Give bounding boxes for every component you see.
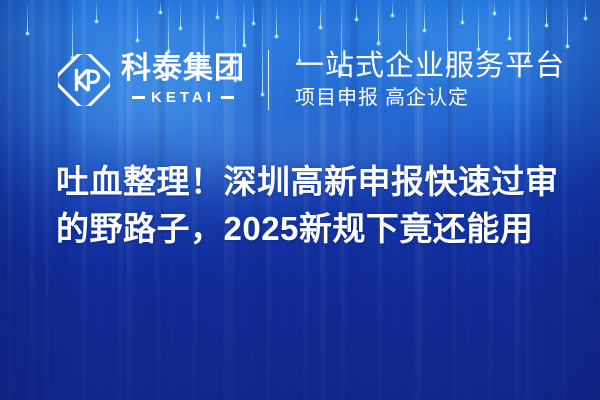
light-beam — [217, 0, 218, 18]
light-beam — [462, 0, 463, 23]
brand-name-en-row: KETAI — [121, 89, 245, 106]
light-beam — [137, 0, 138, 41]
light-beam — [494, 0, 495, 14]
light-beam — [356, 0, 357, 20]
light-beam — [243, 0, 245, 46]
light-beam — [392, 0, 393, 16]
header-divider — [268, 50, 269, 110]
brand-wordmark: 科泰集团 KETAI — [121, 54, 245, 106]
light-beam — [509, 0, 510, 39]
light-beam — [27, 0, 28, 34]
headline-block: 吐血整理！深圳高新申报快速过审 的野路子，2025新规下竟还能用 — [56, 158, 556, 252]
headline-line-2: 的野路子，2025新规下竟还能用 — [56, 205, 556, 252]
headline-line-1: 吐血整理！深圳高新申报快速过审 — [56, 158, 556, 205]
light-beam — [567, 0, 568, 47]
light-beam — [424, 0, 425, 31]
banner-header: 科泰集团 KETAI 一站式企业服务平台 项目申报 高企认定 — [0, 42, 600, 118]
ketai-kp-monogram-icon — [58, 54, 110, 106]
brand-name-en: KETAI — [145, 89, 221, 106]
light-beam — [276, 0, 277, 37]
light-beam — [180, 0, 181, 29]
light-beam — [378, 0, 379, 44]
light-beam — [96, 0, 97, 22]
tagline-block: 一站式企业服务平台 项目申报 高企认定 — [295, 51, 565, 108]
brand-name-cn: 科泰集团 — [121, 54, 245, 84]
light-beam — [546, 0, 547, 26]
wordmark-dash-right — [221, 96, 234, 99]
light-beam — [160, 0, 161, 13]
light-beam — [320, 0, 321, 28]
light-beam — [585, 0, 586, 19]
brand-logo: 科泰集团 KETAI — [58, 54, 245, 106]
wordmark-dash-left — [132, 96, 145, 99]
tagline-secondary: 项目申报 高企认定 — [295, 87, 565, 109]
promo-banner: 科泰集团 KETAI 一站式企业服务平台 项目申报 高企认定 吐血整理！深圳高新… — [0, 0, 600, 400]
light-beam — [253, 0, 254, 24]
tagline-primary: 一站式企业服务平台 — [295, 51, 565, 82]
